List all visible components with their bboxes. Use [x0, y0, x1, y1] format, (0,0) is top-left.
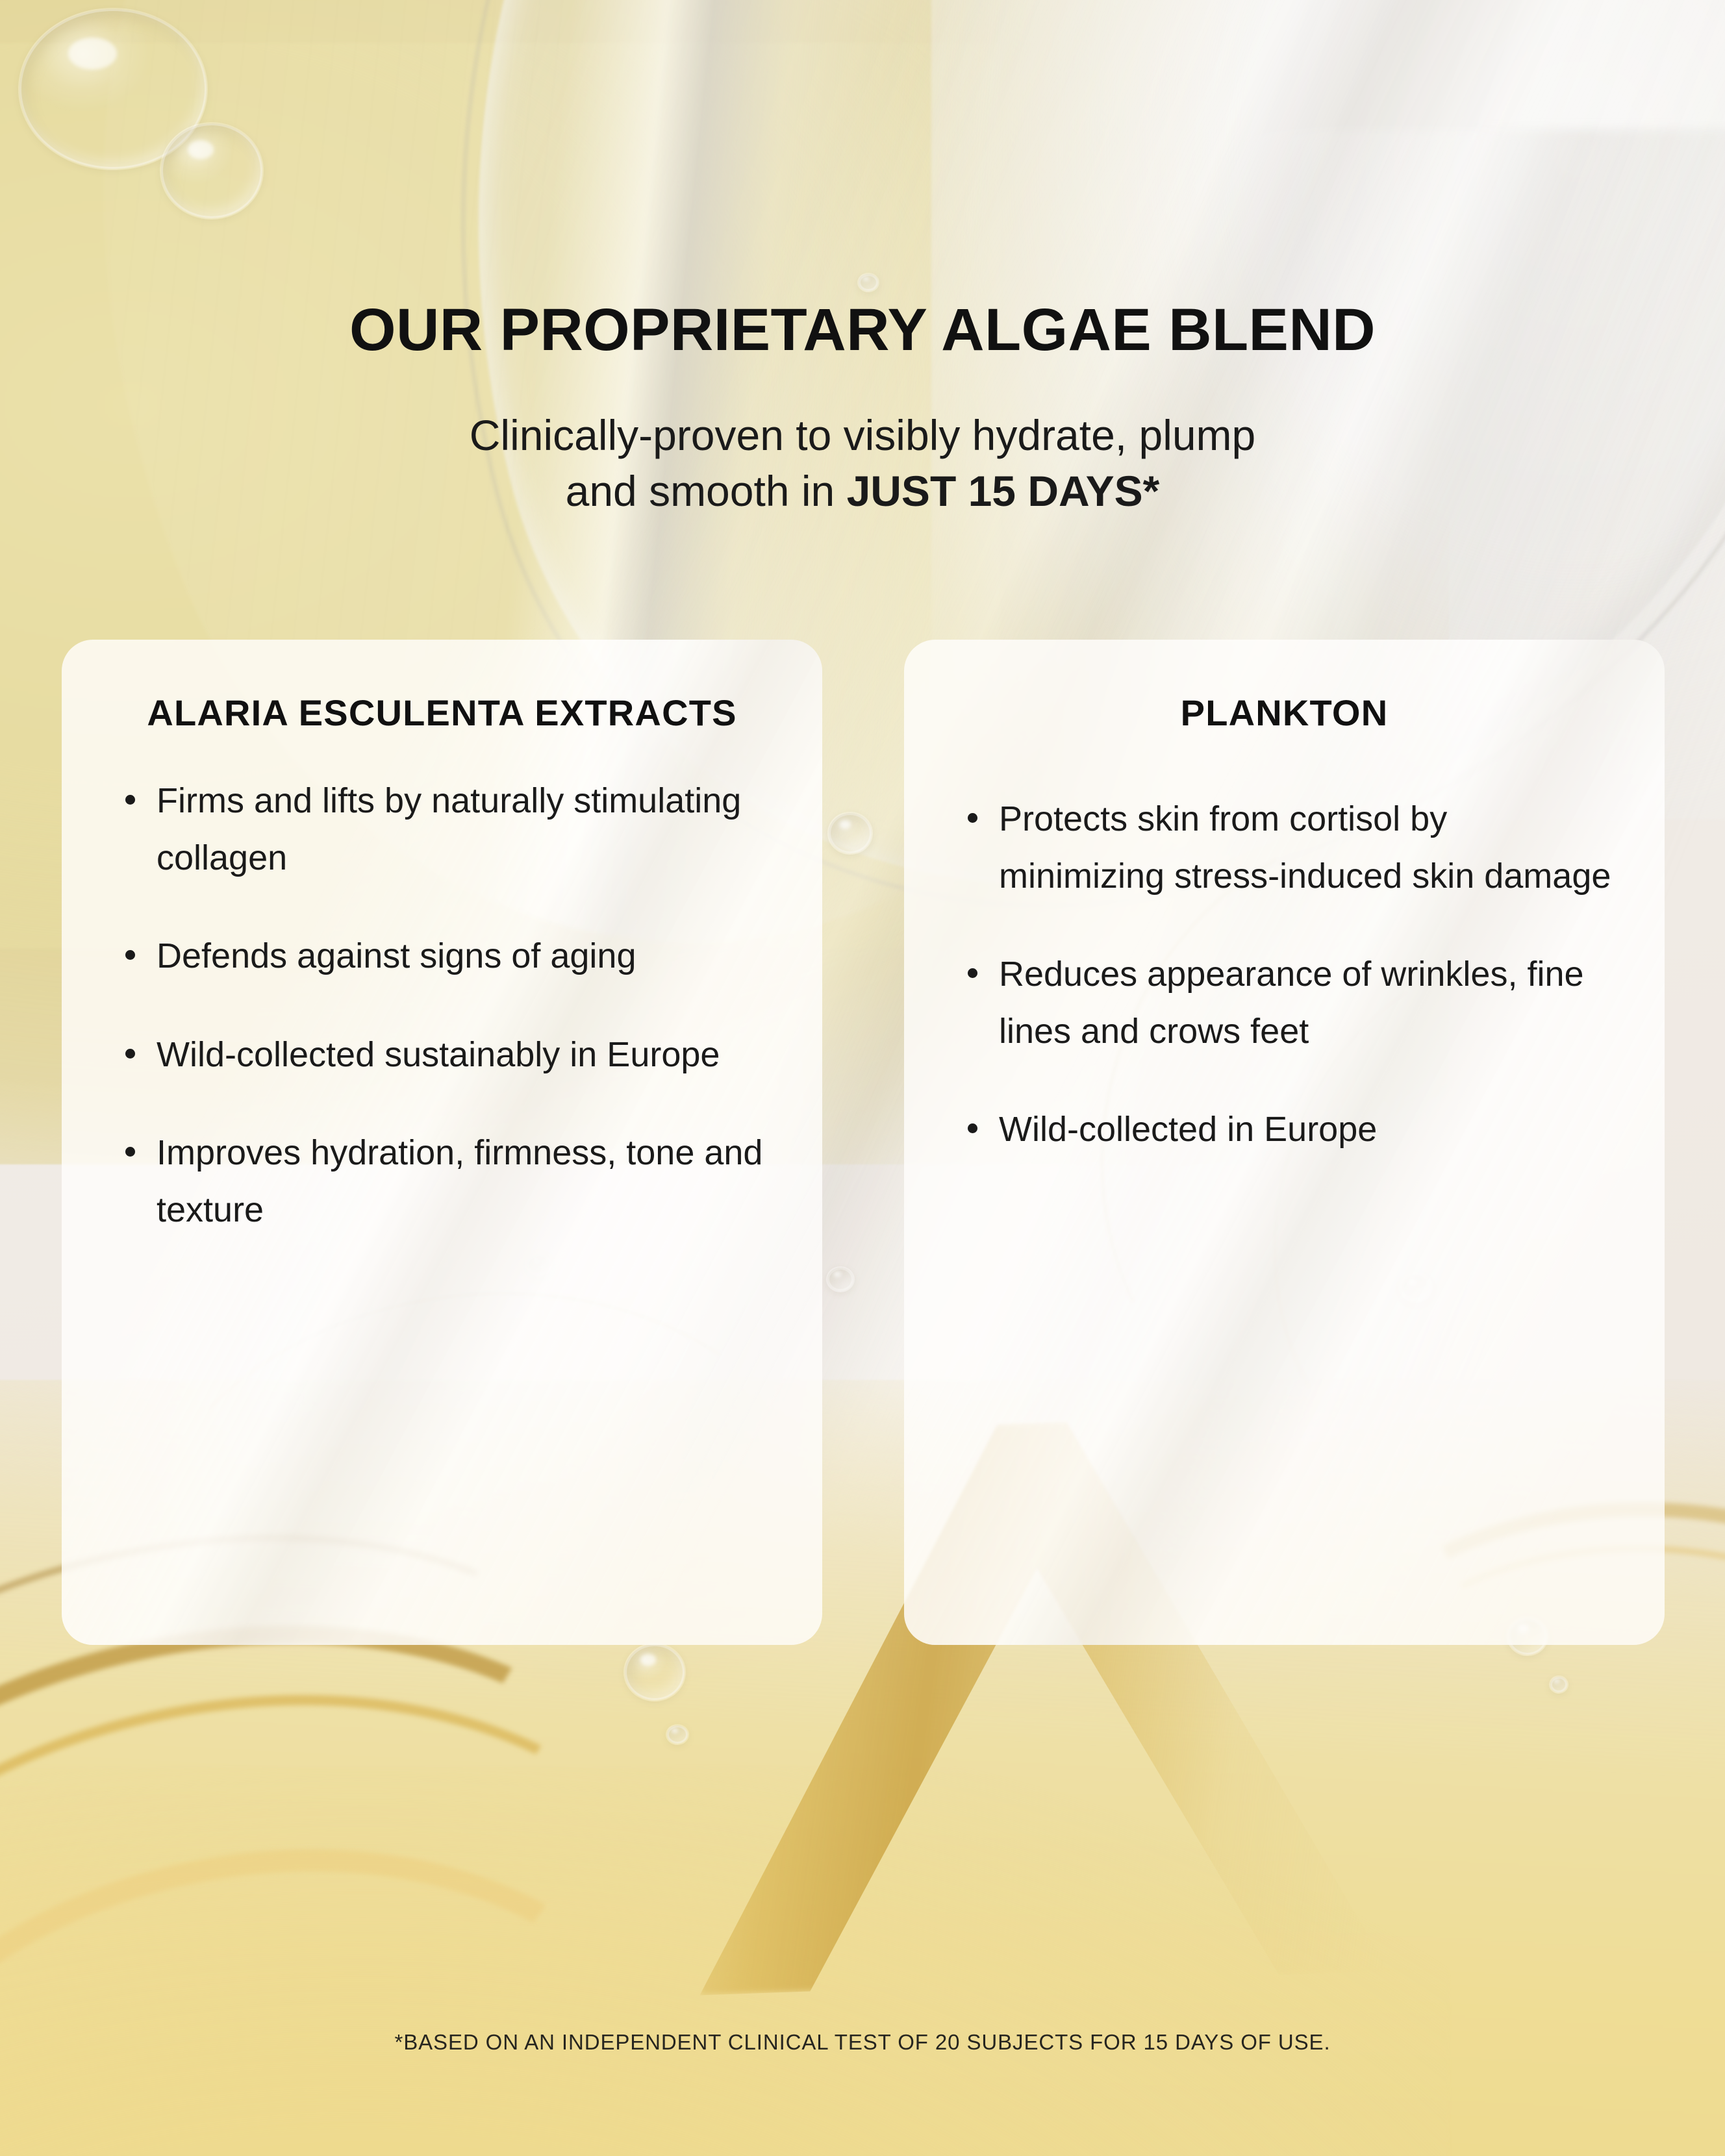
bullet-dot-icon: [125, 1049, 135, 1059]
list-item-text: Wild-collected sustainably in Europe: [157, 1035, 720, 1074]
card-plankton: PLANKTON Protects skin from cortisol by …: [904, 640, 1665, 1645]
list-item: Reduces appearance of wrinkles, fine lin…: [964, 946, 1619, 1060]
bullet-dot-icon: [125, 950, 135, 960]
list-item-text: Defends against signs of aging: [157, 936, 636, 975]
subtitle-line-2-prefix: and smooth in: [566, 467, 847, 515]
bullet-dot-icon: [125, 1147, 135, 1157]
list-item: Protects skin from cortisol by minimizin…: [964, 791, 1619, 905]
bullet-dot-icon: [125, 795, 135, 805]
list-item: Firms and lifts by naturally stimulating…: [121, 773, 777, 886]
subtitle-line-1: Clinically-proven to visibly hydrate, pl…: [470, 411, 1256, 459]
footnote-disclaimer: *BASED ON AN INDEPENDENT CLINICAL TEST O…: [0, 2030, 1725, 2055]
ingredient-cards: ALARIA ESCULENTA EXTRACTS Firms and lift…: [62, 640, 1665, 1645]
bullet-list-alaria: Firms and lifts by naturally stimulating…: [102, 773, 782, 1238]
bullet-dot-icon: [968, 813, 977, 823]
card-title-plankton: PLANKTON: [944, 690, 1624, 735]
subtitle: Clinically-proven to visibly hydrate, pl…: [0, 408, 1725, 520]
list-item: Defends against signs of aging: [121, 928, 777, 984]
list-item-text: Reduces appearance of wrinkles, fine lin…: [999, 955, 1584, 1050]
list-item: Wild-collected in Europe: [964, 1101, 1619, 1158]
list-item-text: Protects skin from cortisol by minimizin…: [999, 799, 1611, 895]
list-item: Improves hydration, firmness, tone and t…: [121, 1125, 777, 1238]
subtitle-highlight: JUST 15 DAYS*: [847, 467, 1160, 515]
card-alaria-esculenta-extracts: ALARIA ESCULENTA EXTRACTS Firms and lift…: [62, 640, 822, 1645]
list-item: Wild-collected sustainably in Europe: [121, 1027, 777, 1083]
bullet-dot-icon: [968, 968, 977, 978]
list-item-text: Wild-collected in Europe: [999, 1110, 1377, 1149]
bullet-dot-icon: [968, 1123, 977, 1133]
list-item-text: Improves hydration, firmness, tone and t…: [157, 1133, 762, 1229]
card-title-alaria: ALARIA ESCULENTA EXTRACTS: [102, 690, 782, 735]
page-title: OUR PROPRIETARY ALGAE BLEND: [0, 300, 1725, 360]
bullet-list-plankton: Protects skin from cortisol by minimizin…: [944, 791, 1624, 1158]
list-item-text: Firms and lifts by naturally stimulating…: [157, 781, 741, 877]
